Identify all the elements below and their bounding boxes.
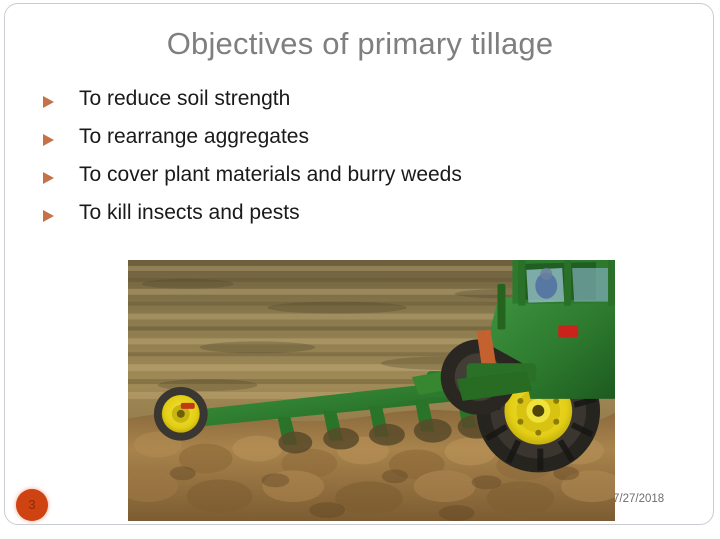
- arrowhead-bullet-icon: [35, 198, 79, 236]
- list-item-label: To reduce soil strength: [79, 84, 290, 114]
- list-item: To reduce soil strength: [35, 84, 655, 122]
- page-number-badge: 3: [16, 489, 48, 521]
- date-stamp: 7/27/2018: [613, 493, 664, 505]
- page-number-label: 3: [16, 489, 48, 521]
- objectives-bullet-list: To reduce soil strength To rearrange agg…: [35, 84, 655, 236]
- list-item-label: To rearrange aggregates: [79, 122, 309, 152]
- list-item: To rearrange aggregates: [35, 122, 655, 160]
- page-title: Objectives of primary tillage: [5, 26, 714, 62]
- list-item: To kill insects and pests: [35, 198, 655, 236]
- list-item: To cover plant materials and burry weeds: [35, 160, 655, 198]
- arrowhead-bullet-icon: [35, 84, 79, 122]
- list-item-label: To kill insects and pests: [79, 198, 300, 228]
- list-item-label: To cover plant materials and burry weeds: [79, 160, 462, 190]
- tractor-plowing-field-photo: [127, 259, 616, 522]
- arrowhead-bullet-icon: [35, 160, 79, 198]
- slide-canvas: Objectives of primary tillage To reduce …: [4, 3, 714, 525]
- photo-artwork: [128, 260, 615, 521]
- arrowhead-bullet-icon: [35, 122, 79, 160]
